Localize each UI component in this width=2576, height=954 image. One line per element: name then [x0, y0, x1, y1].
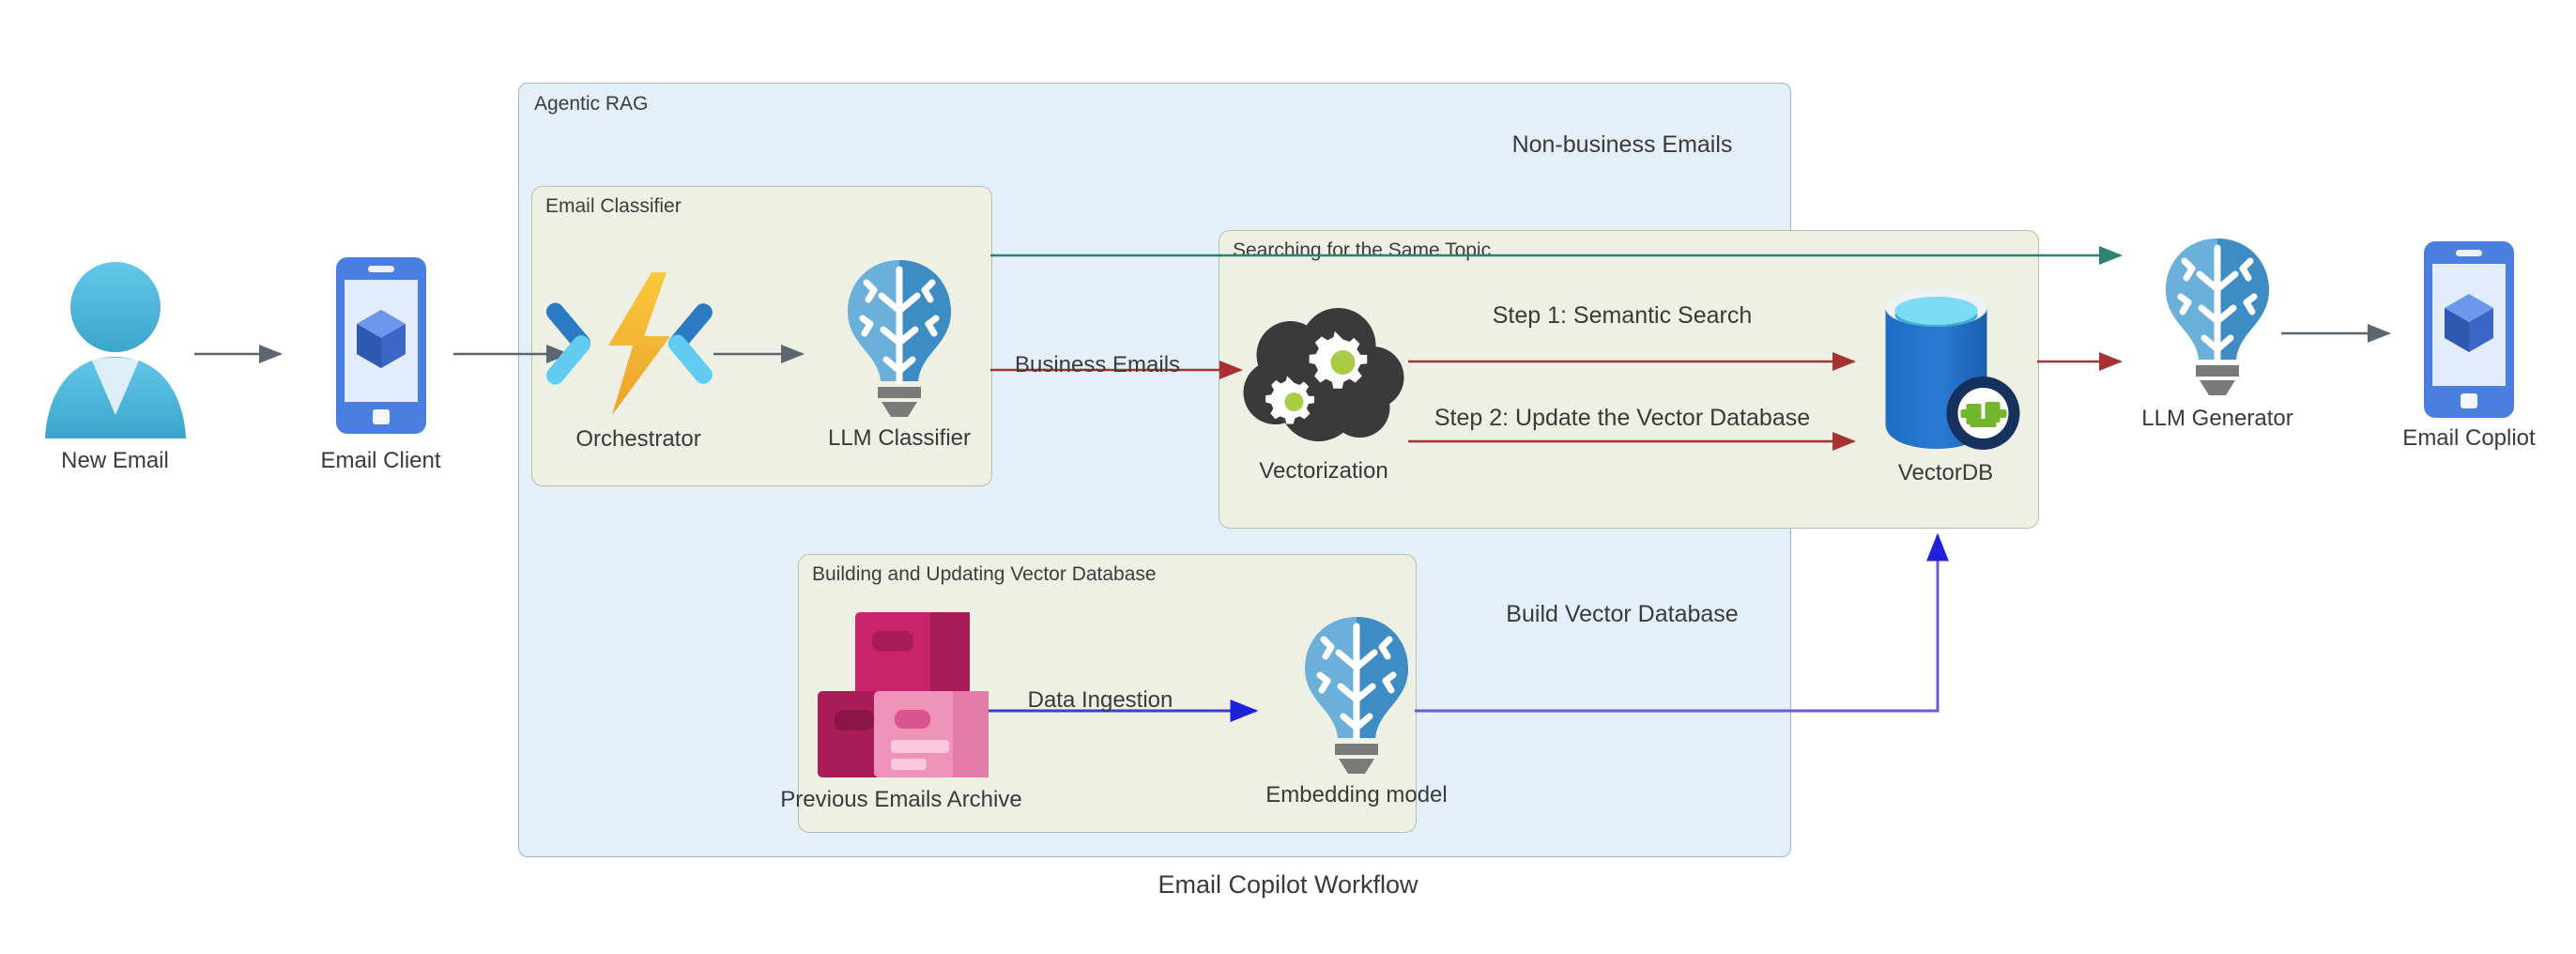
group-label-agentic-rag: Agentic RAG: [534, 93, 648, 115]
brain-bulb-icon: [844, 258, 955, 420]
diagram-canvas: Agentic RAG Email Classifier Searching f…: [0, 0, 2576, 954]
edge-label-step1: Step 1: Semantic Search: [1493, 302, 1753, 330]
node-label-orchestrator: Orchestrator: [575, 426, 700, 453]
database-cylinder-icon: [1868, 282, 2023, 460]
node-label-llm-classifier: LLM Classifier: [828, 425, 971, 452]
cloud-gears-icon: [1242, 310, 1406, 451]
edge-label-business-emails: Business Emails: [1015, 352, 1180, 378]
brain-bulb-icon: [2162, 237, 2273, 398]
diagram-caption: Email Copilot Workflow: [1158, 870, 1418, 900]
logic-apps-lightning-icon: [554, 269, 723, 419]
archive-boxes-icon: [816, 610, 987, 779]
group-label-building-updating: Building and Updating Vector Database: [812, 563, 1157, 586]
edge-label-build-vector-database: Build Vector Database: [1506, 601, 1738, 628]
group-label-searching-same-topic: Searching for the Same Topic: [1233, 239, 1491, 262]
mobile-phone-icon: [2422, 239, 2516, 420]
mobile-phone-icon: [334, 255, 428, 436]
node-label-email-client: Email Client: [320, 448, 440, 474]
edge-label-data-ingestion: Data Ingestion: [1028, 687, 1173, 714]
node-label-embedding-model: Embedding model: [1265, 782, 1447, 808]
node-label-vector-db: VectorDB: [1898, 460, 1993, 486]
node-label-vectorization: Vectorization: [1259, 458, 1388, 485]
node-label-new-email: New Email: [61, 448, 169, 474]
edge-label-non-business-emails: Non-business Emails: [1512, 131, 1733, 159]
brain-bulb-icon: [1301, 615, 1412, 777]
edge-label-step2: Step 2: Update the Vector Database: [1434, 405, 1810, 432]
user-avatar-icon: [36, 255, 195, 443]
group-label-email-classifier: Email Classifier: [545, 195, 682, 218]
node-label-email-copilot: Email Copliot: [2402, 425, 2535, 452]
node-label-llm-generator: LLM Generator: [2141, 406, 2292, 432]
node-label-emails-archive: Previous Emails Archive: [780, 787, 1021, 813]
